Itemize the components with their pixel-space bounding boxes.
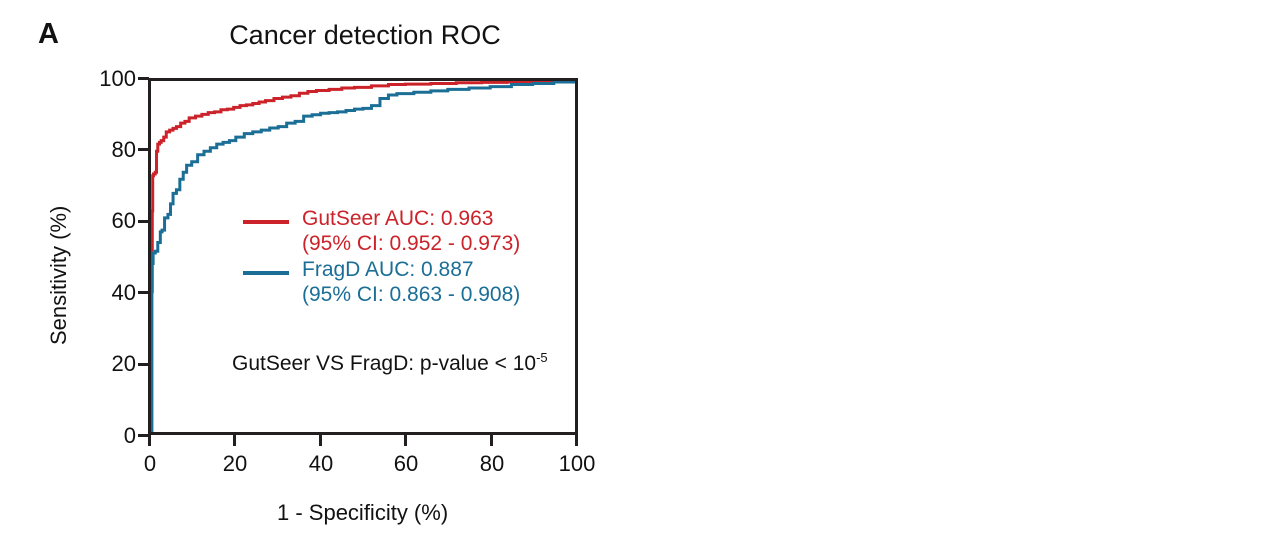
roc-y-axis-title: Sensitivity (%) <box>46 206 72 345</box>
roc-xtick-60: 60 <box>390 451 422 477</box>
roc-legend: GutSeer AUC: 0.963 (95% CI: 0.952 - 0.97… <box>243 207 520 309</box>
panel-b-too: B 100 80 60 40 20 0 TOO accuracy (%) ***… <box>640 0 1269 554</box>
pvalue-exponent: -5 <box>536 350 548 365</box>
roc-legend-item-gutseer: GutSeer AUC: 0.963 (95% CI: 0.952 - 0.97… <box>243 207 520 256</box>
panel-a-label: A <box>38 18 59 51</box>
figure-root: A Cancer detection ROC 100 80 60 40 20 0… <box>0 0 1269 554</box>
roc-pvalue-annotation: GutSeer VS FragD: p-value < 10-5 <box>232 350 548 376</box>
roc-xtick-0: 0 <box>141 451 159 477</box>
roc-legend-item-fragd: FragD AUC: 0.887 (95% CI: 0.863 - 0.908) <box>243 258 520 307</box>
roc-ytick-100: 100 <box>76 66 136 92</box>
roc-ytick-0: 0 <box>76 423 136 449</box>
roc-ytick-80: 80 <box>76 137 136 163</box>
roc-ytick-20: 20 <box>76 351 136 377</box>
roc-ytick-60: 60 <box>76 208 136 234</box>
gutseer-line-swatch <box>243 220 289 224</box>
roc-x-axis-title: 1 - Specificity (%) <box>277 500 448 526</box>
roc-xtick-mark <box>233 435 236 446</box>
roc-chart-title: Cancer detection ROC <box>150 20 580 51</box>
roc-xtick-mark <box>490 435 493 446</box>
pvalue-text: GutSeer VS FragD: p-value < 10 <box>232 352 536 375</box>
roc-xtick-100: 100 <box>556 451 598 477</box>
roc-xtick-40: 40 <box>305 451 337 477</box>
roc-ytick-40: 40 <box>76 280 136 306</box>
fragd-auc-text: FragD AUC: 0.887 <box>302 258 520 283</box>
roc-xtick-mark <box>575 435 578 446</box>
roc-xtick-mark <box>404 435 407 446</box>
roc-xtick-20: 20 <box>219 451 251 477</box>
roc-xtick-mark <box>319 435 322 446</box>
fragd-ci-text: (95% CI: 0.863 - 0.908) <box>302 283 520 308</box>
gutseer-ci-text: (95% CI: 0.952 - 0.973) <box>302 232 520 257</box>
gutseer-auc-text: GutSeer AUC: 0.963 <box>302 207 520 232</box>
roc-xtick-80: 80 <box>476 451 508 477</box>
fragd-line-swatch <box>243 271 289 275</box>
panel-a-roc: A Cancer detection ROC 100 80 60 40 20 0… <box>0 0 640 554</box>
roc-xtick-mark <box>148 435 151 446</box>
